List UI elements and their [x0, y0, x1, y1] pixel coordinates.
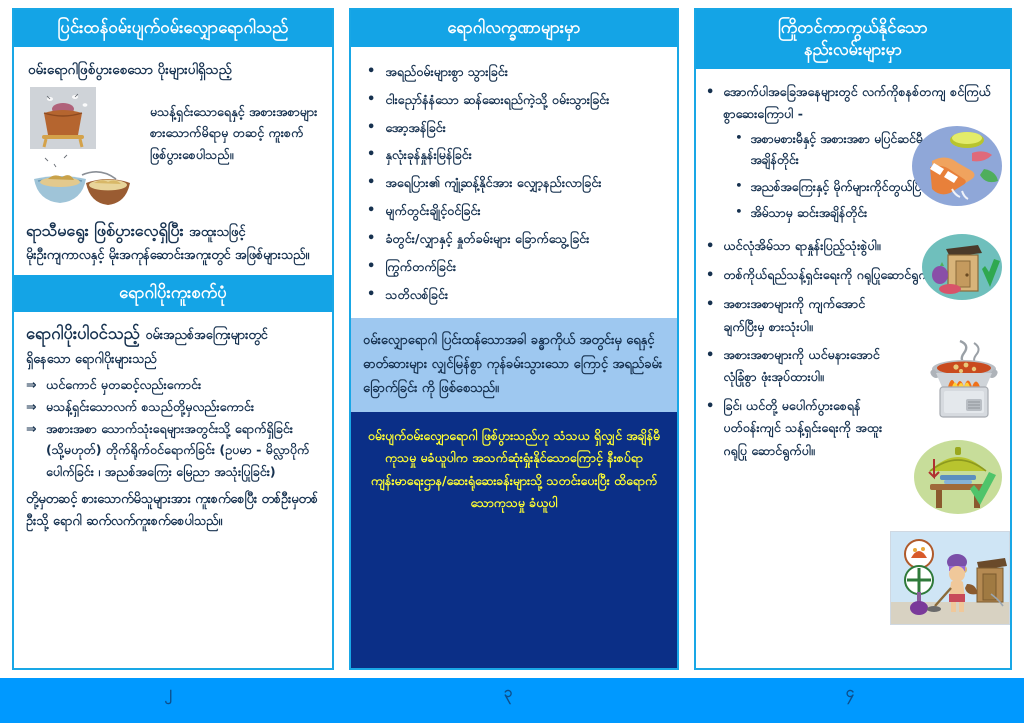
- arrow-icon: ⇒: [26, 418, 40, 481]
- prevention-item-text: ခြင်၊ ယင်တို့ မပေါက်ပွားစေရန် ပတ်ဝန်းကျင…: [723, 395, 886, 462]
- bullet-icon: •: [735, 203, 742, 224]
- covered-food-on-table-icon-image: [912, 437, 1004, 519]
- prevention-item-text: အစားအစာများကို ယင်မနားအောင် လုံခြုံစွာ ဖ…: [723, 344, 882, 389]
- left-panel-body: ဝမ်းရောဂါဖြစ်ပွားစေသော ပိုးများပါရှိသည့်: [14, 47, 332, 270]
- bullet-icon: •: [706, 235, 714, 258]
- right-header-line2: နည်းလမ်းများမှာ: [702, 39, 1004, 61]
- symptom-text: ခံတွင်း/လျှာနှင့် နှုတ်ခမ်းများ ခြောက်သွ…: [385, 230, 589, 249]
- arrow-item-text: မသန့်ရှင်းသောလက် စသည်တို့မှလည်းကောင်း: [46, 396, 320, 417]
- left-lead-text: ဝမ်းရောဂါဖြစ်ပွားစေသော ပိုးများပါရှိသည့်: [28, 59, 320, 81]
- arrow-icon: ⇒: [26, 396, 40, 417]
- middle-panel-body: •အရည်ဝမ်းများစွာ သွားခြင်း •ငါးညှော်နံနံ…: [351, 47, 677, 318]
- middle-warning-box: ဝမ်းပျက်ဝမ်းလျှောရောဂါ ဖြစ်ပွားသည်ဟု သံသ…: [351, 412, 677, 668]
- panel-middle: ရောဂါလက္ခဏာများမှာ •အရည်ဝမ်းများစွာ သွား…: [349, 8, 679, 670]
- bullet-icon: •: [735, 177, 742, 198]
- panel-left: ပြင်းထန်ဝမ်းပျက်ဝမ်းလျှောရောဂါသည် ဝမ်းရေ…: [12, 8, 334, 670]
- bullet-icon: •: [367, 230, 375, 249]
- village-sanitation-scene-image: [890, 531, 1010, 625]
- list-item: • အစားအစာများကို ယင်မနားအောင် လုံခြုံစွာ…: [706, 344, 882, 389]
- list-item: •ကြွက်တက်ခြင်း: [367, 258, 665, 277]
- right-panel-header: ကြိုတင်ကာကွယ်နိုင်သော နည်းလမ်းများမှာ: [696, 10, 1010, 69]
- bullet-icon: •: [367, 146, 375, 165]
- list-item: •အရေပြား၏ ကျုံ့ဆန့်နိုင်အား လျှော့နည်းလာ…: [367, 174, 665, 193]
- bullet-icon: •: [706, 264, 714, 287]
- symptom-text: သတိလစ်ခြင်း: [385, 286, 448, 305]
- bullet-icon: •: [706, 81, 714, 229]
- symptom-text: အရည်ဝမ်းများစွာ သွားခြင်း: [385, 63, 508, 82]
- left-section2-lead: ရောဂါပိုးပါဝင်သည့် ဝမ်းအညစ်အကြေးများတွင်: [26, 322, 320, 346]
- food-bowls-with-flies-image: [26, 153, 138, 209]
- symptom-text: အော့အန်ခြင်း: [385, 119, 446, 138]
- prevention-item-text: ယင်လုံအိမ်သာ ရာနှုန်းပြည့်သုံးစွဲပါ။: [723, 235, 906, 258]
- left-closing-text: တို့မှတဆင့် စားသောက်မိသူများအား ကူးစက်စေ…: [26, 488, 320, 532]
- symptom-text: နှလုံးခုန်နှုန်းမြန်ခြင်း: [385, 146, 472, 165]
- list-item: • ယင်လုံအိမ်သာ ရာနှုန်းပြည့်သုံးစွဲပါ။: [706, 235, 906, 258]
- left-image-text-row: မသန့်ရှင်းသောရေနှင့် အစားအစာများ စားသောက…: [26, 87, 320, 209]
- sub-item-text: အိမ်သာမှ ဆင်းအချိန်တိုင်း: [750, 203, 867, 224]
- list-item: • ခြင်၊ ယင်တို့ မပေါက်ပွားစေရန် ပတ်ဝန်းက…: [706, 395, 886, 462]
- arrow-item-text: ယင်ကောင် မှတဆင့်လည်းကောင်း: [46, 374, 320, 395]
- left-emphasis-big: ရာသီမရွေး ဖြစ်ပွားလေ့ရှိပြီး: [26, 221, 184, 240]
- bullet-icon: •: [706, 395, 714, 462]
- left-emphasis-line: ရာသီမရွေး ဖြစ်ပွားလေ့ရှိပြီး အထူးသဖြင့်: [26, 219, 320, 244]
- left-illustration-stack: [26, 87, 142, 209]
- handwashing-icon-image: [910, 123, 1004, 209]
- symptom-text: အရေပြား၏ ကျုံ့ဆန့်နိုင်အား လျှော့နည်းလာခ…: [385, 174, 601, 193]
- page-number-left: ၂: [148, 683, 188, 705]
- footer-bar: ၂ ၃ ၄: [0, 678, 1024, 723]
- symptom-text: ငါးညှော်နံနံသော ဆန်ဆေးရည်ကဲ့သို့ ဝမ်းသွာ…: [385, 91, 609, 110]
- list-item: •အရည်ဝမ်းများစွာ သွားခြင်း: [367, 63, 665, 82]
- list-item: •ခံတွင်း/လျှာနှင့် နှုတ်ခမ်းများ ခြောက်သ…: [367, 230, 665, 249]
- brochure-columns: ပြင်းထန်ဝမ်းပျက်ဝမ်းလျှောရောဂါသည် ဝမ်းရေ…: [0, 0, 1024, 678]
- left-emphasis-rest: မိုးဦးကျကာလနှင့် မိုးအကုန်ဆောင်းအကူးတွင်…: [26, 244, 320, 266]
- left-section2-lead-line2: ရှိနေသော ရောဂါပိုးများသည်: [26, 348, 320, 370]
- prevention-item-text: အစားအစာများကို ကျက်အောင် ချက်ပြီးမှ စားသ…: [723, 293, 882, 338]
- list-item: •မျက်တွင်းချိုင့်ဝင်ခြင်း: [367, 202, 665, 221]
- prevention-item-text: အောက်ပါအခြေအနေများတွင် လက်ကိုစနစ်တကျ စင်…: [723, 84, 991, 121]
- bullet-icon: •: [706, 293, 714, 338]
- bullet-icon: •: [367, 91, 375, 110]
- bullet-icon: •: [367, 202, 375, 221]
- sub-item-text: အစာမစားမီနှင့် အစားအစာ မပြင်ဆင်မီအချိန်တ…: [750, 129, 929, 171]
- left-paragraph: မသန့်ရှင်းသောရေနှင့် အစားအစာများ စားသောက…: [150, 87, 320, 165]
- symptom-text: ကြွက်တက်ခြင်း: [385, 258, 456, 277]
- fly-proof-latrine-icon-image: [920, 231, 1004, 303]
- bullet-icon: •: [367, 286, 375, 305]
- cooking-pot-on-stove-image: [916, 337, 1008, 423]
- left-section2-body: ရောဂါပိုးပါဝင်သည့် ဝမ်းအညစ်အကြေးများတွင်…: [14, 312, 332, 539]
- list-item: • အစာမစားမီနှင့် အစားအစာ မပြင်ဆင်မီအချိန…: [735, 129, 929, 171]
- symptom-text: မျက်တွင်းချိုင့်ဝင်ခြင်း: [385, 202, 480, 221]
- bullet-icon: •: [706, 344, 714, 389]
- right-header-line1: ကြိုတင်ကာကွယ်နိုင်သော: [702, 17, 1004, 39]
- left-section2-lead-big: ရောဂါပိုးပါဝင်သည့်: [26, 324, 140, 343]
- middle-info-box: ဝမ်းလျှောရောဂါ ပြင်းထန်သောအခါ ခန္ဓာကိုယ်…: [351, 318, 677, 413]
- list-item: ⇒ မသန့်ရှင်းသောလက် စသည်တို့မှလည်းကောင်း: [26, 396, 320, 417]
- right-panel-body: • အောက်ပါအခြေအနေများတွင် လက်ကိုစနစ်တကျ စ…: [696, 69, 1010, 474]
- list-item: •ငါးညှော်နံနံသော ဆန်ဆေးရည်ကဲ့သို့ ဝမ်းသွ…: [367, 91, 665, 110]
- arrow-icon: ⇒: [26, 374, 40, 395]
- page-number-right: ၄: [830, 683, 870, 705]
- left-section2-lead-small: ဝမ်းအညစ်အကြေးများတွင်: [145, 327, 267, 342]
- covered-pot-with-flies-image: [30, 87, 96, 149]
- list-item: •အော့အန်ခြင်း: [367, 119, 665, 138]
- bullet-icon: •: [367, 63, 375, 82]
- left-section2-header: ရောဂါပိုးကူးစက်ပုံ: [14, 275, 332, 312]
- bullet-icon: •: [735, 129, 742, 171]
- list-item: • အစားအစာများကို ကျက်အောင် ချက်ပြီးမှ စာ…: [706, 293, 882, 338]
- list-item: ⇒ အစားအစာ သောက်သုံးရေများအတွင်းသို့ ရောက…: [26, 418, 320, 481]
- list-item: •သတိလစ်ခြင်း: [367, 286, 665, 305]
- arrow-item-text: အစားအစာ သောက်သုံးရေများအတွင်းသို့ ရောက်ရ…: [46, 418, 320, 481]
- bullet-icon: •: [367, 119, 375, 138]
- bullet-icon: •: [367, 174, 375, 193]
- list-item: ⇒ ယင်ကောင် မှတဆင့်လည်းကောင်း: [26, 374, 320, 395]
- panel-right: ကြိုတင်ကာကွယ်နိုင်သော နည်းလမ်းများမှာ: [694, 8, 1012, 670]
- bullet-icon: •: [367, 258, 375, 277]
- page-number-middle: ၃: [488, 683, 528, 705]
- left-emphasis-small: အထူးသဖြင့်: [189, 225, 245, 240]
- middle-panel-header: ရောဂါလက္ခဏာများမှာ: [351, 10, 677, 47]
- left-panel-header: ပြင်းထန်ဝမ်းပျက်ဝမ်းလျှောရောဂါသည်: [14, 10, 332, 47]
- left-arrow-list: ⇒ ယင်ကောင် မှတဆင့်လည်းကောင်း ⇒ မသန့်ရှင်…: [26, 374, 320, 482]
- symptom-list: •အရည်ဝမ်းများစွာ သွားခြင်း •ငါးညှော်နံနံ…: [363, 63, 665, 305]
- list-item: •နှလုံးခုန်နှုန်းမြန်ခြင်း: [367, 146, 665, 165]
- brochure-page: ပြင်းထန်ဝမ်းပျက်ဝမ်းလျှောရောဂါသည် ဝမ်းရေ…: [0, 0, 1024, 723]
